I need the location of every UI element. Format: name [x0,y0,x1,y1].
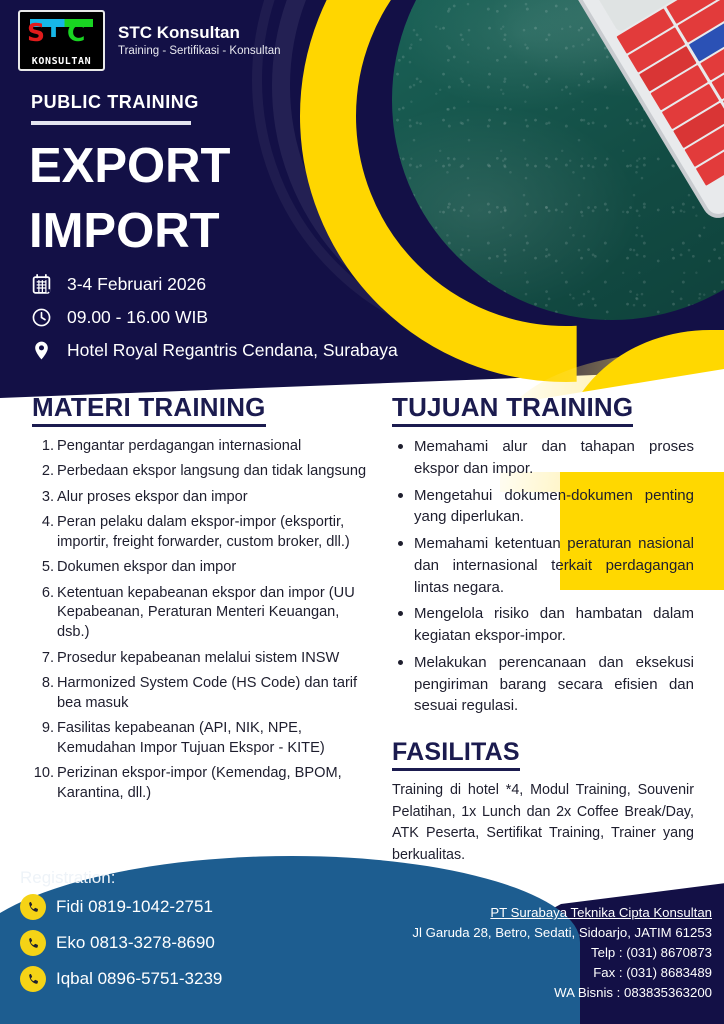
logo-letters: S T C [25,16,98,56]
tujuan-list: Memahami alur dan tahapan proses ekspor … [392,436,694,717]
company-name: PT Surabaya Teknika Cipta Konsultan [292,905,712,920]
phone-icon [20,894,46,920]
company-info: PT Surabaya Teknika Cipta Konsultan Jl G… [292,905,712,1003]
title-line-2: IMPORT [29,199,230,264]
cargo-ship-photo [392,0,724,320]
materi-list: Pengantar perdagangan internasional Perb… [32,437,372,804]
contact-text: Fidi 0819-1042-2751 [56,897,213,917]
company-phone: Telp : (031) 8670873 [292,943,712,963]
contact-text: Eko 0813-3278-8690 [56,933,215,953]
list-item: Peran pelaku dalam ekspor-impor (eksport… [32,513,372,553]
contact-text: Iqbal 0896-5751-3239 [56,969,222,989]
logo-letter-c: C [67,20,85,45]
brand-name: STC Konsultan [118,22,281,43]
list-item: Fasilitas kepabeanan (API, NIK, NPE, Kem… [32,719,372,759]
event-time-row: 09.00 - 16.00 WIB [29,305,398,329]
calendar-icon [29,272,53,296]
location-pin-icon [29,338,53,362]
list-item: Perbedaan ekspor langsung dan tidak lang… [32,462,372,482]
list-item: Memahami alur dan tahapan proses ekspor … [392,436,694,480]
event-date: 3-4 Februari 2026 [67,274,206,295]
list-item: Ketentuan kepabeanan ekspor dan impor (U… [32,584,372,644]
company-address: Jl Garuda 28, Betro, Sedati, Sidoarjo, J… [292,923,712,943]
logo-letter-t: T [45,16,62,41]
list-item: Mengelola risiko dan hambatan dalam kegi… [392,603,694,647]
phone-icon [20,930,46,956]
tujuan-heading: TUJUAN TRAINING [392,392,633,427]
list-item: Harmonized System Code (HS Code) dan tar… [32,674,372,714]
fasilitas-heading: FASILITAS [392,738,520,771]
list-item: Alur proses ekspor dan impor [32,488,372,508]
list-item: Memahami ketentuan peraturan nasional da… [392,533,694,598]
brand-lockup: S T C KONSULTAN STC Konsultan Training -… [18,10,281,71]
eyebrow-underline [31,121,191,125]
event-details: 3-4 Februari 2026 09.00 - 16.00 WIB Hote… [29,272,398,362]
event-date-row: 3-4 Februari 2026 [29,272,398,296]
list-item: Pengantar perdagangan internasional [32,437,372,457]
stc-logo: S T C KONSULTAN [18,10,105,71]
fasilitas-text: Training di hotel *4, Modul Training, So… [392,780,694,867]
tujuan-section: TUJUAN TRAINING Memahami alur dan tahapa… [392,392,694,867]
event-location: Hotel Royal Regantris Cendana, Surabaya [67,340,398,361]
eyebrow-label: PUBLIC TRAINING [31,92,199,113]
event-time: 09.00 - 16.00 WIB [67,307,208,328]
title-line-1: EXPORT [29,134,230,199]
brand-text: STC Konsultan Training - Sertifikasi - K… [118,22,281,58]
list-item: Mengetahui dokumen-dokumen penting yang … [392,485,694,529]
list-item: Melakukan perencanaan dan eksekusi pengi… [392,652,694,717]
logo-letter-s: S [27,20,45,45]
brand-tagline: Training - Sertifikasi - Konsultan [118,44,281,59]
clock-icon [29,305,53,329]
list-item: Dokumen ekspor dan impor [32,558,372,578]
materi-heading: MATERI TRAINING [32,392,266,427]
registration-title: Registration: [20,868,360,888]
logo-wordmark: KONSULTAN [20,56,103,69]
company-fax: Fax : (031) 8683489 [292,963,712,983]
materi-section: MATERI TRAINING Pengantar perdagangan in… [32,392,372,810]
list-item: Prosedur kepabeanan melalui sistem INSW [32,649,372,669]
page-title: EXPORT IMPORT [29,134,230,263]
company-whatsapp: WA Bisnis : 083835363200 [292,983,712,1003]
list-item: Perizinan ekspor-impor (Kemendag, BPOM, … [32,764,372,804]
phone-icon [20,966,46,992]
poster-root: S T C KONSULTAN STC Konsultan Training -… [0,0,724,1024]
event-location-row: Hotel Royal Regantris Cendana, Surabaya [29,338,398,362]
